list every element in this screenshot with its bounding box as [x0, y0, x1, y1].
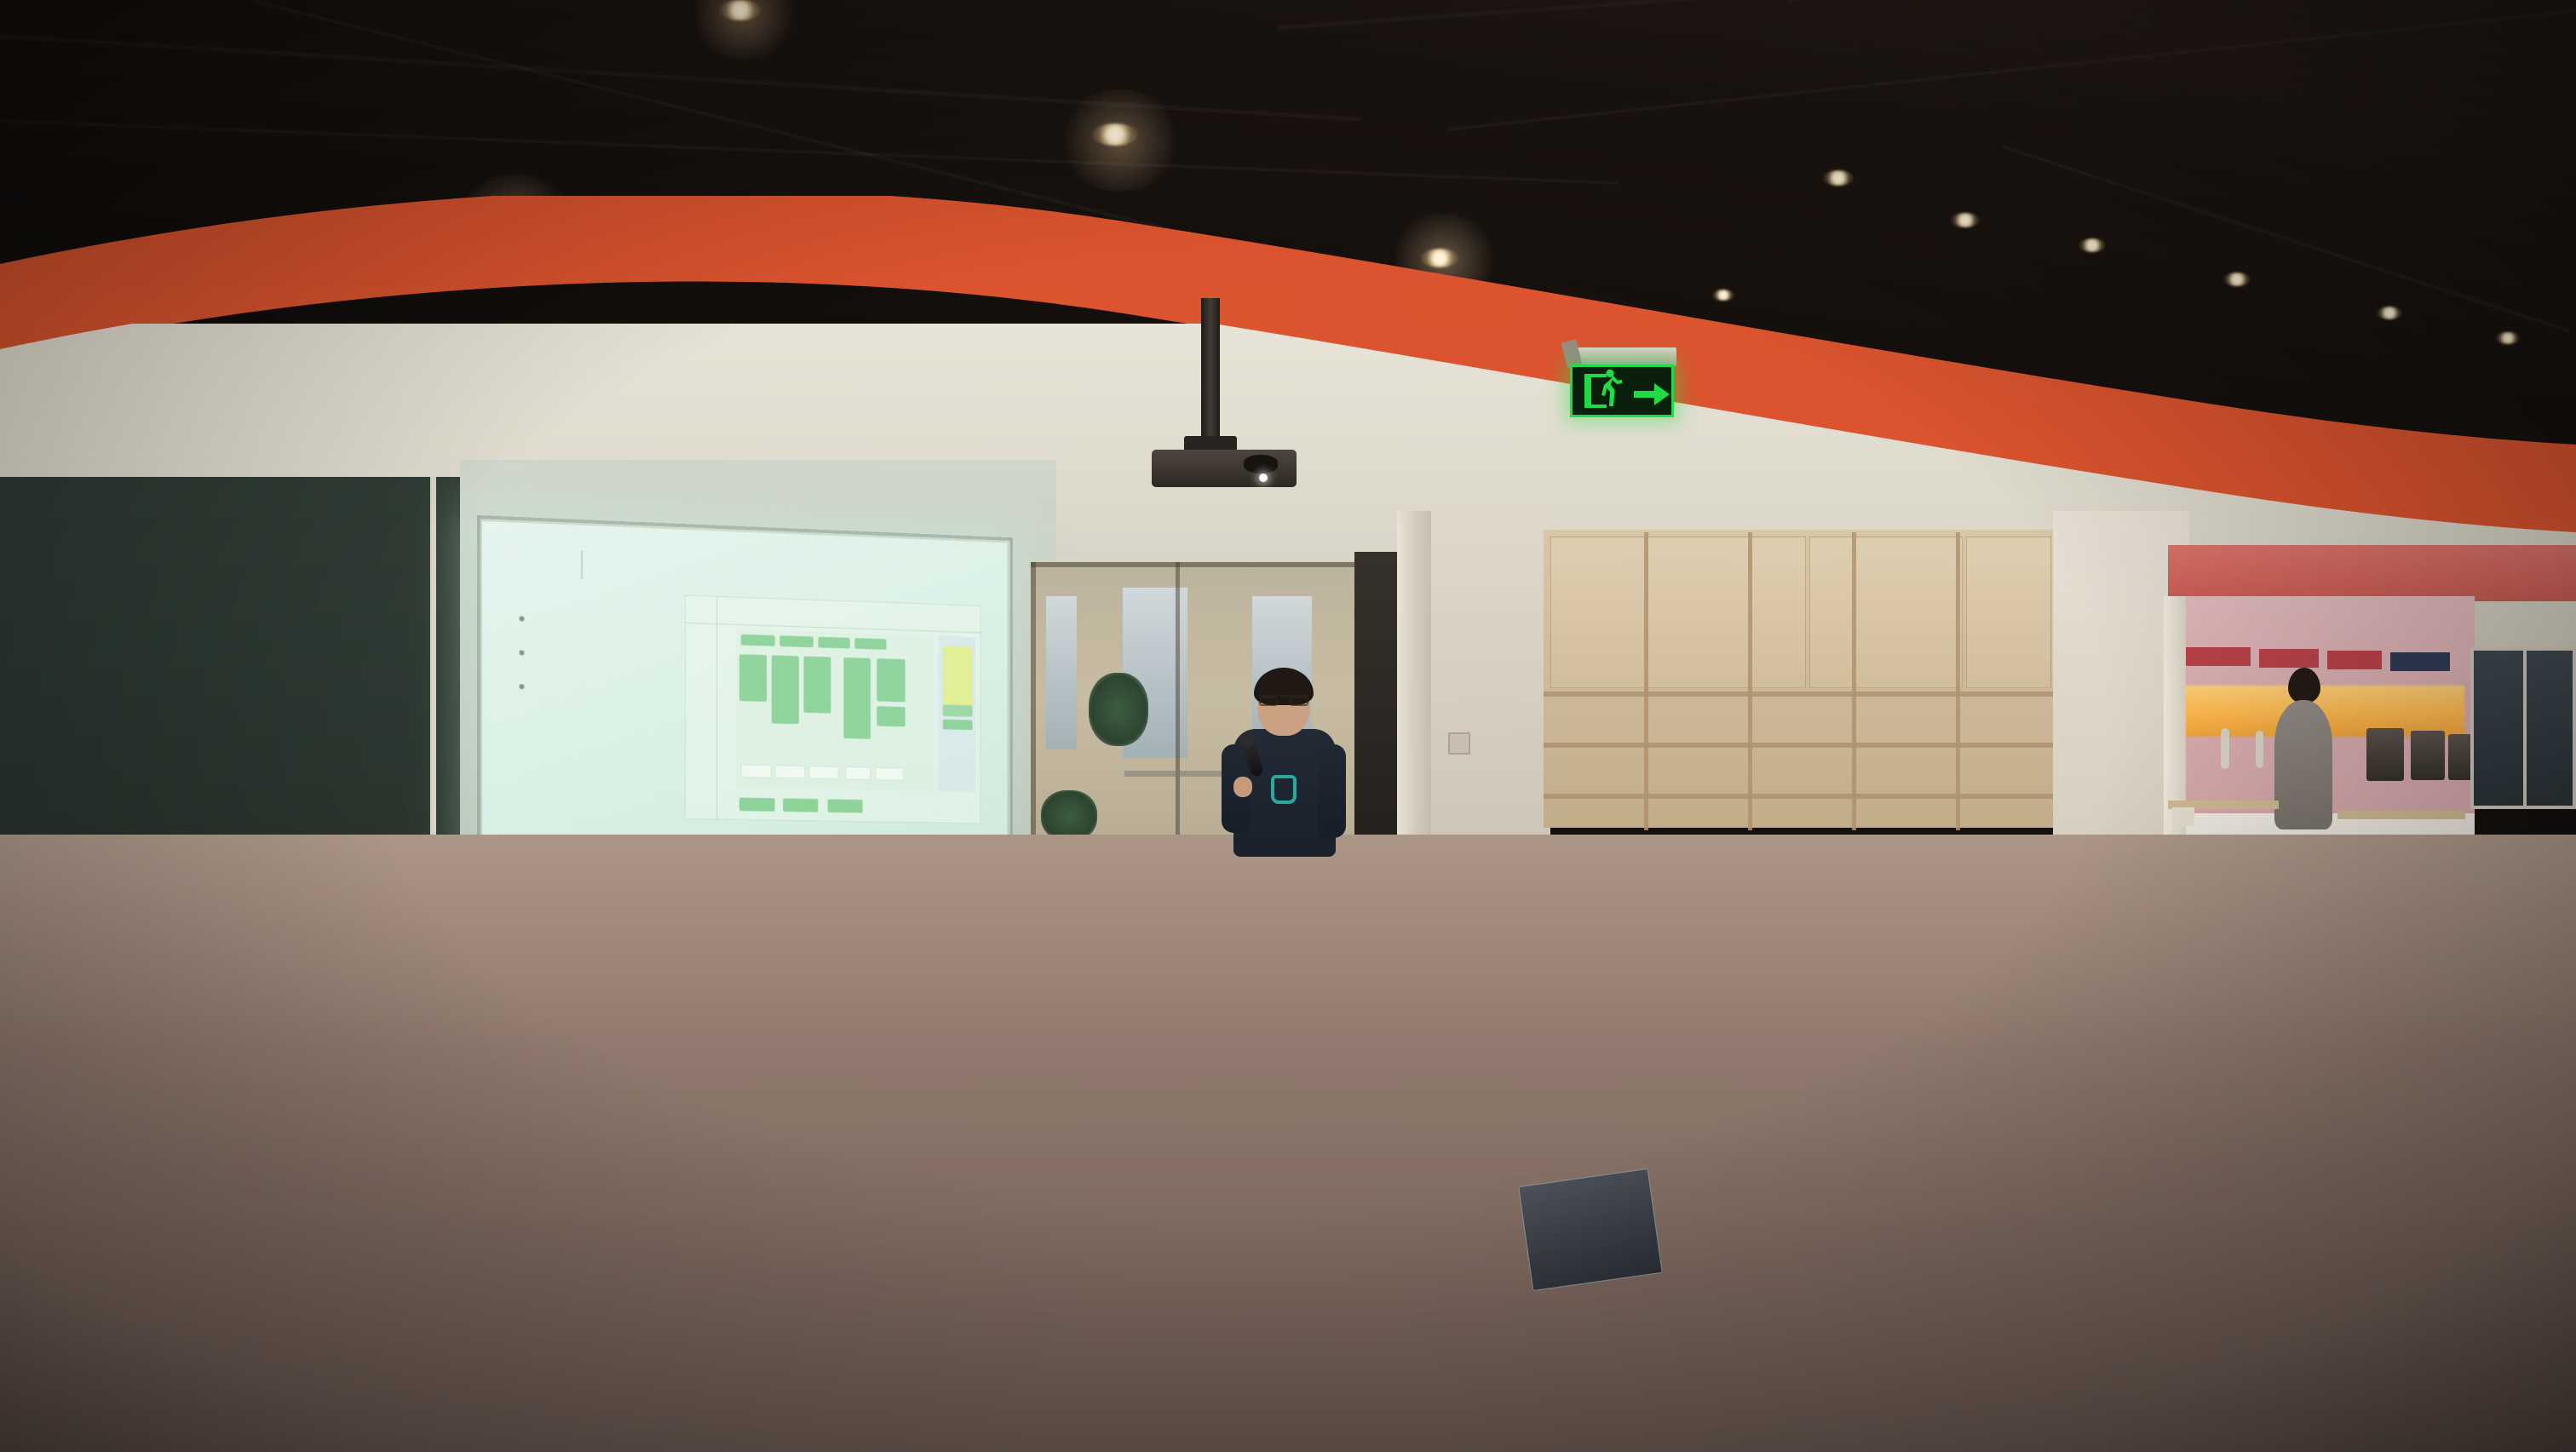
cabinet-door[interactable] [1966, 537, 2051, 688]
diagram-external-label [828, 799, 863, 801]
cabinet-door[interactable] [1550, 537, 1806, 688]
plant [1089, 673, 1148, 746]
tshirt-logo-icon [1271, 775, 1297, 804]
cabinet-door[interactable] [1809, 537, 1963, 688]
diagram-service-label [877, 658, 905, 661]
diagram-monitor-sub-label [943, 704, 973, 707]
coffee-machine [2366, 728, 2404, 781]
diagram-monitor-sub [943, 704, 973, 716]
diagram-external-box [739, 798, 775, 812]
bullet-dot-icon [520, 684, 525, 689]
diagram-monitor-sub-label [943, 720, 973, 722]
slide-bullet [520, 650, 537, 656]
pantry-panel [2327, 651, 2382, 669]
faucet-icon [2256, 731, 2263, 768]
diagram-external-box [828, 799, 863, 812]
shelf-post [1748, 532, 1752, 830]
red-accent-panel [2168, 545, 2576, 601]
diagram-external-box [783, 798, 818, 812]
pantry-panel [2390, 652, 2450, 671]
diagram-storage-box [775, 765, 806, 778]
diagram-external-label [783, 798, 818, 801]
glasses-icon [1259, 695, 1308, 706]
laptop[interactable] [1518, 1168, 1663, 1291]
diagram-entry-label [818, 637, 849, 640]
projector-pole [1201, 298, 1220, 456]
diagram-storage-box [741, 764, 772, 778]
diagram-service-box [772, 655, 799, 724]
diagram-entry-label [854, 638, 886, 640]
diagram-service-box [804, 657, 831, 714]
ceiling-light [1092, 123, 1138, 146]
diagram-entry-label [741, 634, 775, 637]
shelf-rail [1544, 692, 2055, 697]
diagram-storage-label [846, 767, 870, 770]
diagram-service-box [739, 654, 767, 702]
diagram-entry-box [854, 638, 886, 650]
diagram-external-label [739, 798, 775, 801]
table [2337, 811, 2465, 819]
slide-bullet [520, 684, 537, 690]
floor [0, 835, 2576, 1452]
slide-bullet-list [520, 616, 537, 718]
glass-mullion [1031, 562, 1389, 567]
diagram-divider [716, 597, 717, 821]
diagram-side-label-mid [688, 703, 716, 703]
diagram-monitor-label [943, 646, 973, 676]
diagram-service-label [804, 657, 831, 659]
presentation-photo-scene [0, 0, 2576, 1452]
diagram-service-box [877, 658, 905, 702]
diagram-storage-box [808, 766, 839, 779]
coffee-machine [2411, 731, 2445, 780]
diagram-storage-box [876, 767, 904, 781]
diagram-service-label [739, 654, 767, 657]
diagram-entry-box [779, 635, 813, 647]
pantry-panel [2179, 647, 2251, 666]
pantry-panel [2259, 649, 2319, 668]
bullet-dot-icon [520, 616, 525, 621]
diagram-service-label [772, 655, 799, 657]
projector-lens-icon [1244, 455, 1278, 473]
diagram-service-label [843, 657, 871, 660]
tissue-box [2172, 807, 2194, 826]
diagram-entry-label [779, 635, 813, 638]
diagram-storage-label [876, 768, 902, 771]
plant [1041, 790, 1097, 841]
exit-sign-bracket [1567, 347, 1676, 366]
presenter-hand [1233, 777, 1252, 797]
diagram-service-box [843, 657, 871, 739]
diagram-storage-box [845, 766, 871, 780]
diagram-title [686, 607, 980, 617]
faucet-icon [2221, 728, 2229, 769]
table-edge [1124, 771, 1227, 777]
ceiling-light [720, 0, 761, 20]
exit-sign [1570, 364, 1674, 417]
diagram-service-label [877, 706, 905, 709]
projection-screen [482, 521, 1007, 878]
diagram-storage-label [776, 766, 805, 768]
bullet-dot-icon [520, 650, 525, 655]
diagram-service-box [877, 706, 905, 726]
shelf-post [1956, 532, 1960, 830]
shelf-post [1644, 532, 1648, 830]
slide-bullet [520, 616, 537, 622]
shelf-post [1852, 532, 1856, 830]
diagram-storage-label [742, 765, 771, 767]
diagram-monitor-sub [943, 720, 973, 730]
presenter-arm [1317, 744, 1346, 838]
diagram-entry-box [818, 637, 849, 649]
shelf-rail [1544, 743, 2055, 748]
diagram-entry-box [741, 634, 775, 646]
pantry-window [2470, 647, 2576, 809]
standing-person [2273, 668, 2332, 829]
wall-switch [1448, 732, 1470, 755]
shelf-rail [1544, 794, 2055, 799]
diagram-storage-label [809, 766, 838, 769]
slide-architecture-diagram [685, 594, 981, 824]
projector-led [1259, 473, 1268, 482]
ceiling-light [1823, 170, 1854, 186]
window [1046, 596, 1077, 749]
logo-divider [581, 551, 583, 580]
